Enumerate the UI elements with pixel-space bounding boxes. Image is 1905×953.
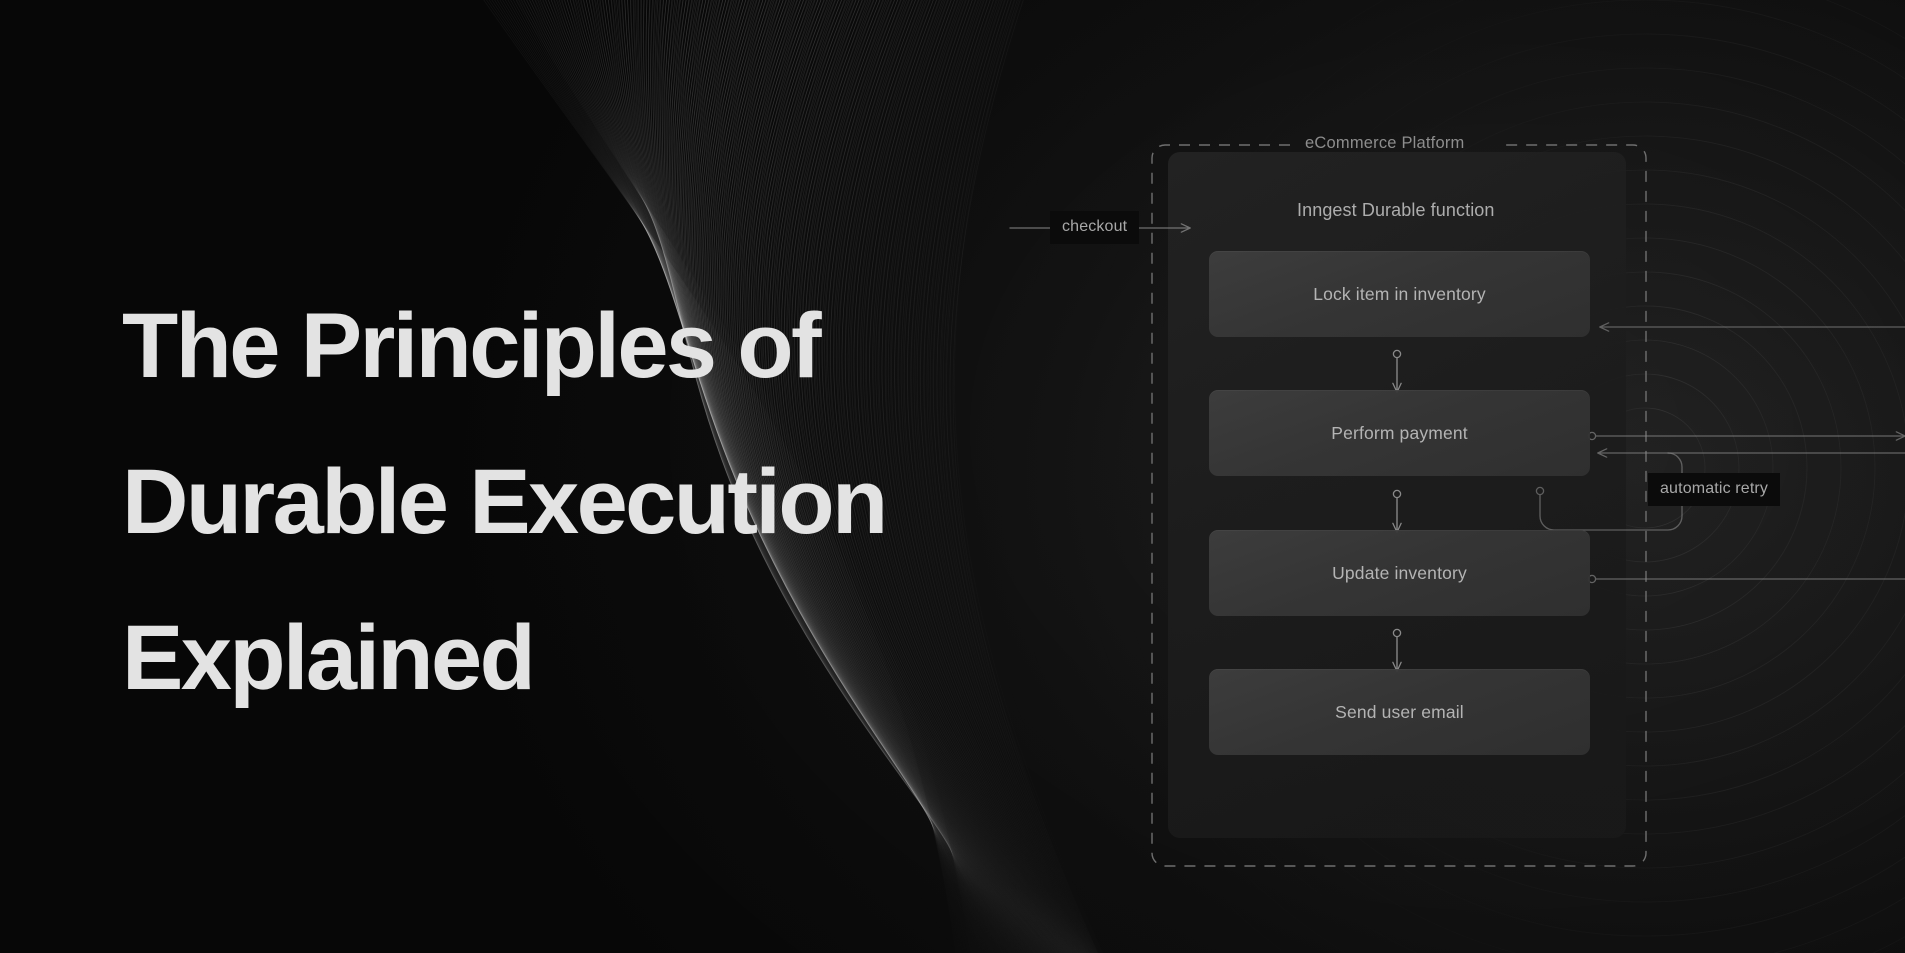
step-send-user-email[interactable]: Send user email (1209, 669, 1590, 755)
function-panel-title: Inngest Durable function (1297, 200, 1495, 221)
title-line-1: The Principles of (122, 268, 1072, 424)
step-label: Lock item in inventory (1313, 284, 1486, 305)
title-line-2: Durable Execution (122, 424, 1072, 580)
hero-heading: The Principles of Durable Execution Expl… (122, 268, 1072, 736)
step-label: Perform payment (1331, 423, 1467, 444)
page-title: The Principles of Durable Execution Expl… (122, 268, 1072, 736)
step-label: Send user email (1335, 702, 1464, 723)
poster-canvas: The Principles of Durable Execution Expl… (0, 0, 1905, 953)
title-line-3: Explained (122, 580, 1072, 736)
step-update-inventory[interactable]: Update inventory (1209, 530, 1590, 616)
step-perform-payment[interactable]: Perform payment (1209, 390, 1590, 476)
step-lock-item-in-inventory[interactable]: Lock item in inventory (1209, 251, 1590, 337)
connector-update-out-right (1588, 575, 1905, 582)
edge-label-automatic-retry: automatic retry (1648, 473, 1780, 506)
platform-label: eCommerce Platform (1296, 134, 1473, 153)
connector-payment-out-right (1588, 432, 1905, 439)
step-label: Update inventory (1332, 563, 1467, 584)
edge-label-checkout: checkout (1050, 211, 1139, 244)
